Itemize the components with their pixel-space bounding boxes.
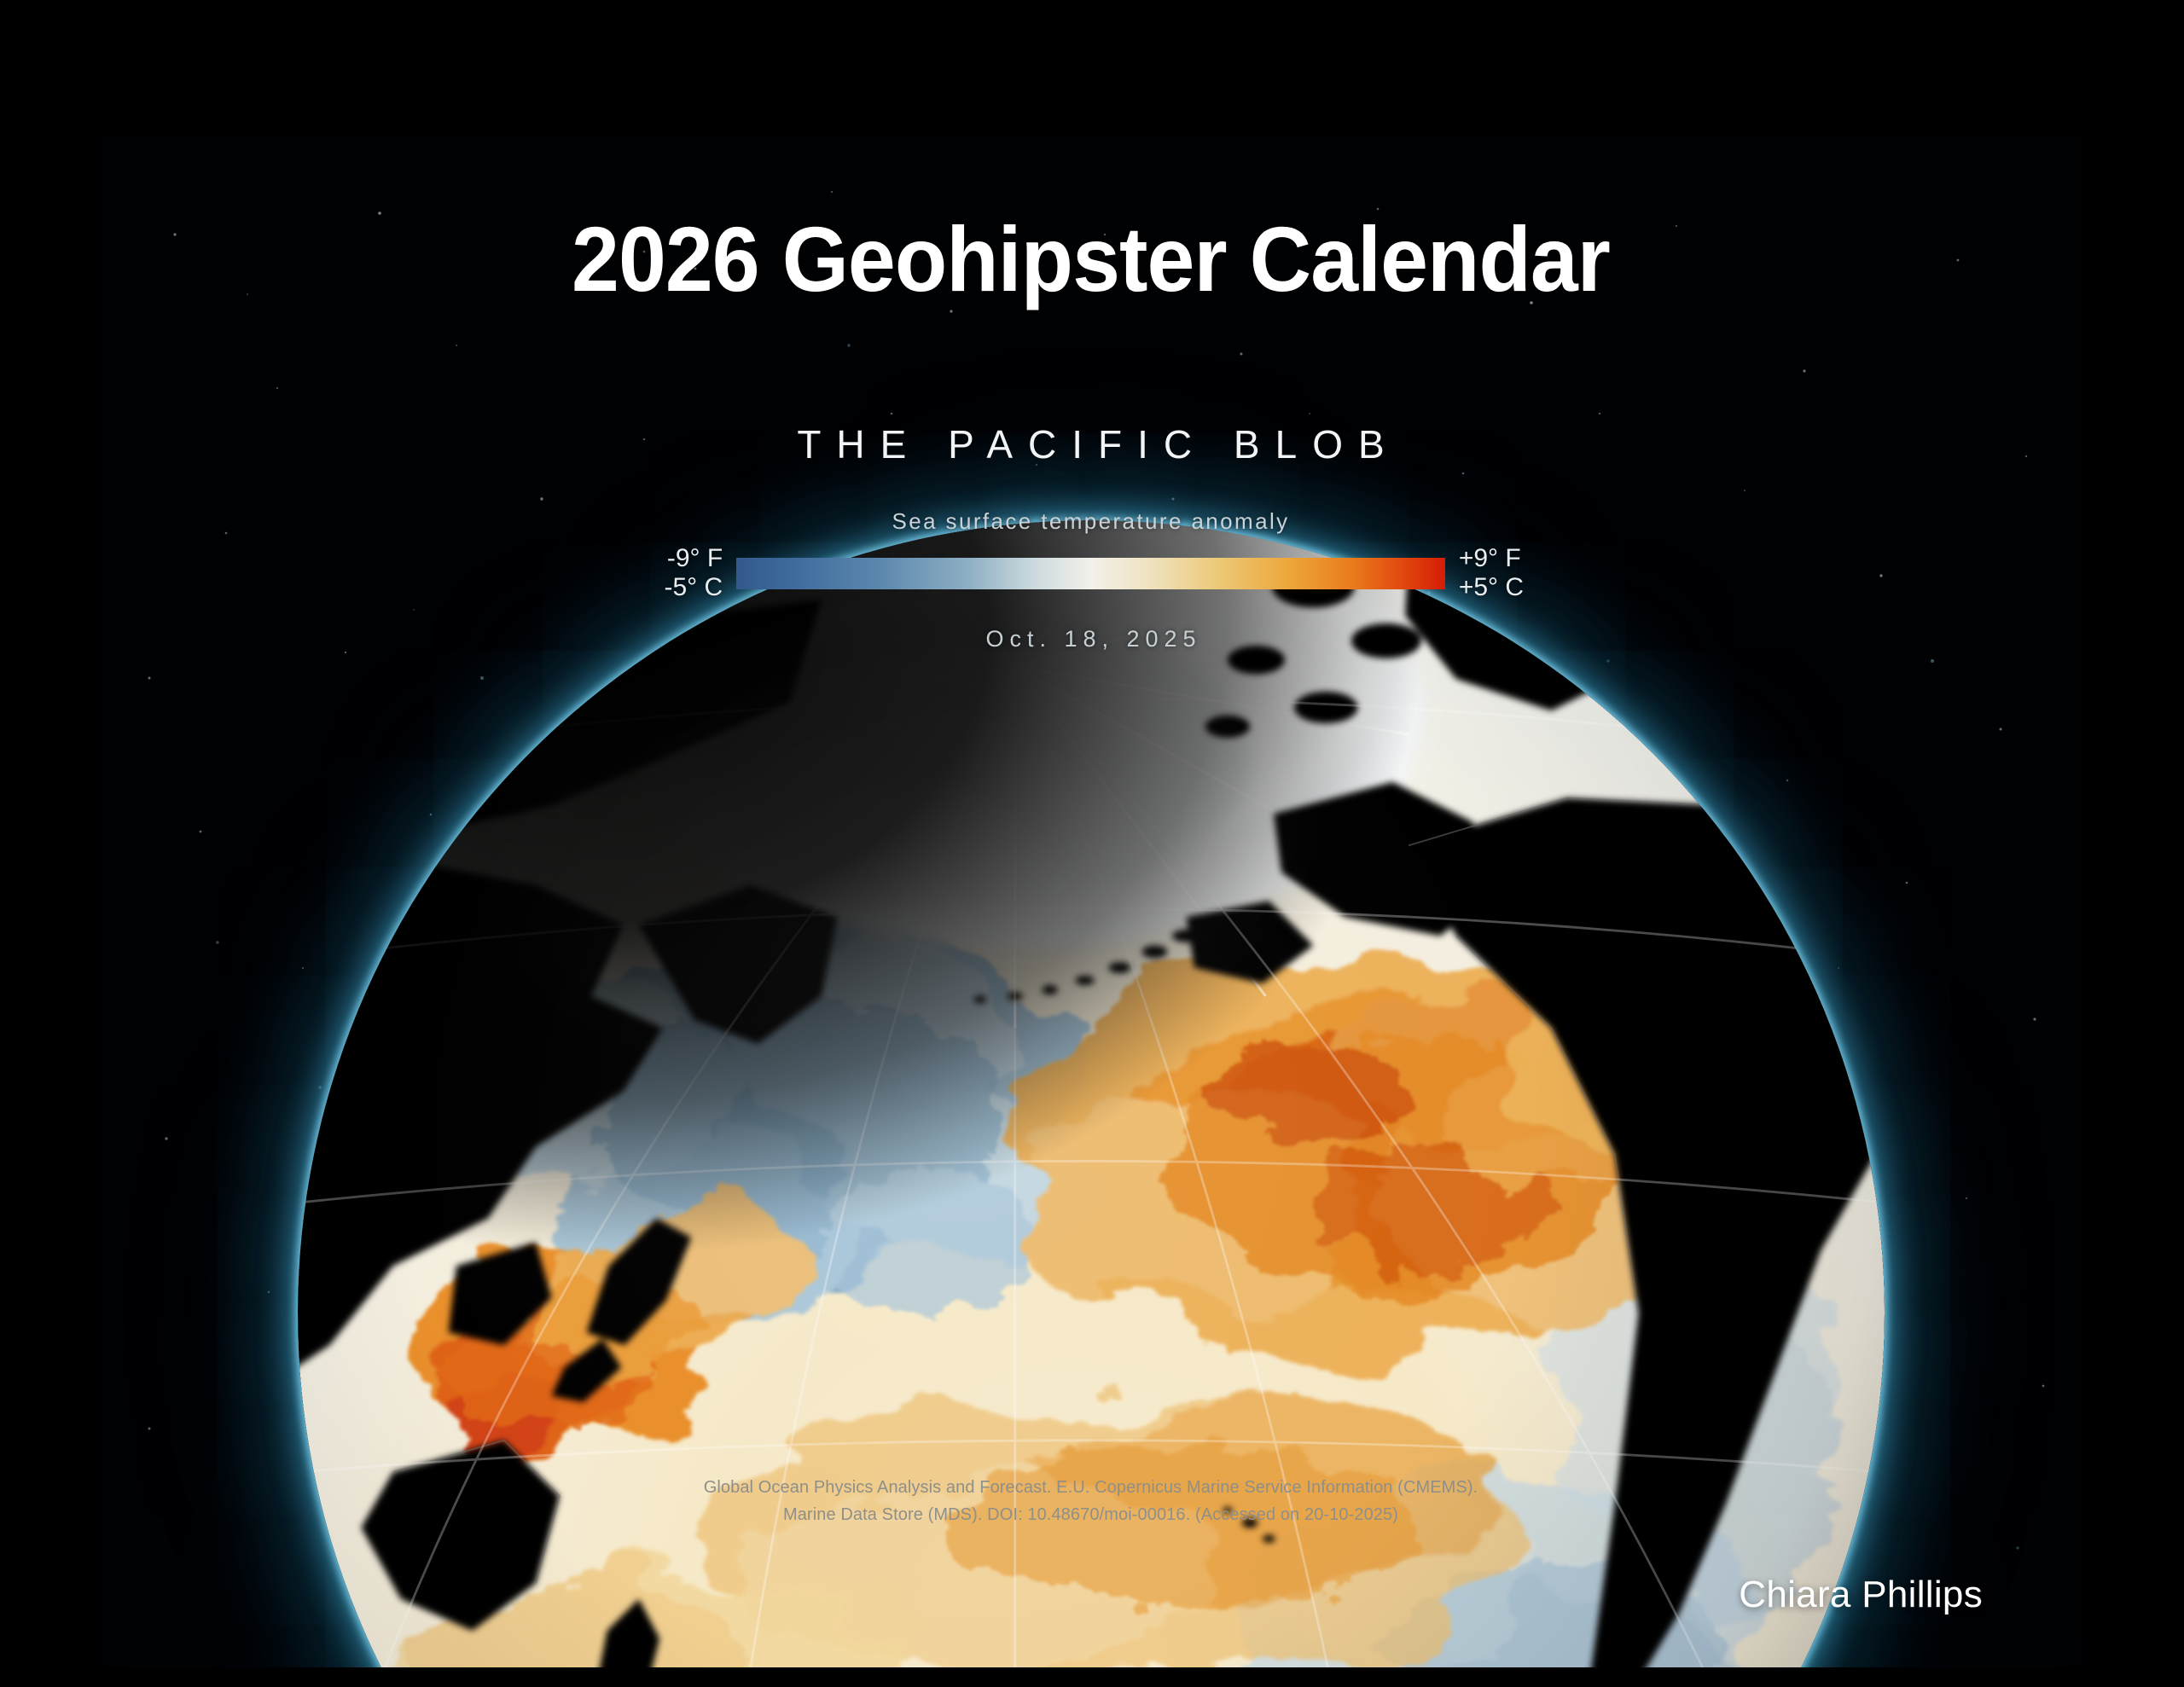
legend-title: Sea surface temperature anomaly bbox=[622, 510, 1560, 532]
legend-date: Oct. 18, 2025 bbox=[622, 628, 1560, 651]
colorbar bbox=[736, 558, 1445, 589]
legend-min-fahrenheit: -9° F bbox=[622, 544, 723, 573]
legend-max-fahrenheit: +9° F bbox=[1459, 544, 1560, 573]
page-subtitle: THE PACIFIC BLOB bbox=[98, 425, 2083, 464]
attribution: Global Ocean Physics Analysis and Foreca… bbox=[494, 1474, 1688, 1529]
poster-page: 2026 Geohipster Calendar THE PACIFIC BLO… bbox=[0, 0, 2184, 1687]
legend-min-labels: -9° F -5° C bbox=[622, 544, 723, 602]
legend-max-celsius: +5° C bbox=[1459, 573, 1560, 602]
attribution-line-2: Marine Data Store (MDS). DOI: 10.48670/m… bbox=[494, 1501, 1688, 1528]
attribution-line-1: Global Ocean Physics Analysis and Foreca… bbox=[494, 1474, 1688, 1501]
legend-min-celsius: -5° C bbox=[622, 573, 723, 602]
legend-scale-row: -9° F -5° C +9° F +5° C bbox=[622, 544, 1560, 602]
poster-canvas: 2026 Geohipster Calendar THE PACIFIC BLO… bbox=[98, 132, 2083, 1667]
legend-max-labels: +9° F +5° C bbox=[1459, 544, 1560, 602]
page-title: 2026 Geohipster Calendar bbox=[167, 213, 2013, 305]
legend: Sea surface temperature anomaly -9° F -5… bbox=[622, 510, 1560, 651]
artist-credit: Chiara Phillips bbox=[1739, 1574, 1983, 1616]
